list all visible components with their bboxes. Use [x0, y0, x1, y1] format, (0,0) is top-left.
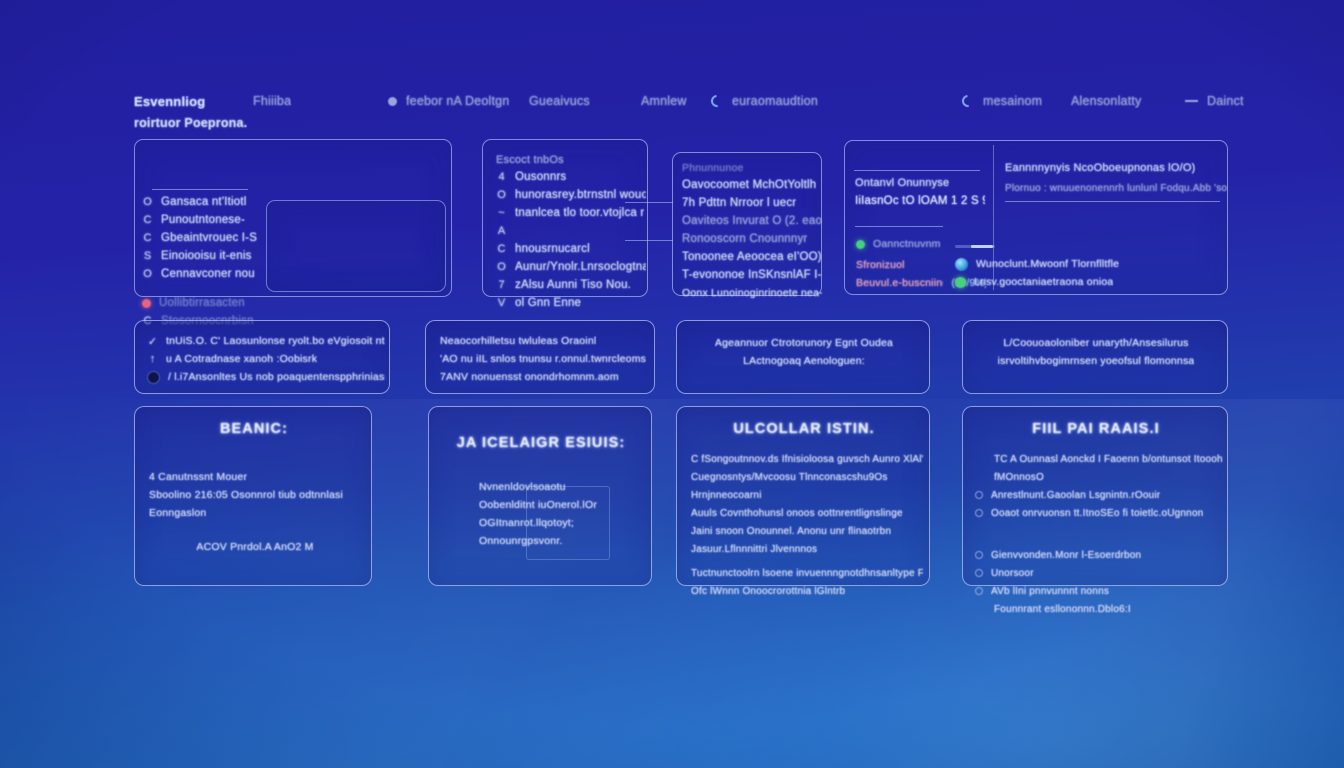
- body-line: Jasuur.Lflnnnittri Jlvennnos: [691, 541, 923, 557]
- list-item-active[interactable]: Uollibtirrasacten: [142, 295, 272, 311]
- strip-card-4-list: L/Coouoaoloniber unaryth/Ansesilurus isr…: [963, 335, 1229, 371]
- nav-row: Esvennliog roirtuor Poeprona. Fhiiiba fe…: [120, 80, 1224, 136]
- list-item-label: tnanlcea tlo toor.vtojlca r: [515, 207, 644, 219]
- crescent-icon: [960, 93, 977, 110]
- note-sub: Plornuo : wnuuenonennrh lunlunl Fodqu.Ab…: [1005, 183, 1227, 194]
- brand-sublabel: roirtuor Poeprona.: [134, 116, 247, 130]
- divider-stat-bottom: [855, 226, 943, 227]
- list-item: isrvoltihvbogimrnsen yoeofsul flomonnsa: [963, 353, 1229, 369]
- menu-item[interactable]: Oaviteos Invurat O (2. eaocol: [682, 213, 822, 229]
- radio-icon: [975, 509, 983, 517]
- glyph-icon: C: [142, 214, 153, 226]
- body-line: Nvnenldovlsoaotu: [479, 479, 647, 495]
- body-line[interactable]: Gienvvonden.Monr l-Esoerdrbon: [975, 547, 1223, 563]
- badge-icon: [955, 277, 966, 288]
- progress-fill: [971, 245, 993, 248]
- card-title: FIIL PAI RAAIS.I: [963, 421, 1229, 437]
- stat-value-row: IiIasnOc tO lOAM 1 2 S 9B9O8: [855, 193, 985, 209]
- radio-icon: [975, 551, 983, 559]
- glyph-icon: C: [496, 243, 507, 255]
- strip-card-2-list: Neaocorhilletsu twluleas Oraoinl 'AO nu …: [440, 333, 656, 387]
- status-dot-icon: [856, 240, 865, 249]
- status-dot-icon: [142, 299, 151, 308]
- nav-item-amnlew[interactable]: Amnlew: [641, 94, 687, 108]
- list-item[interactable]: ✓ tnUiS.O. C' Laosunlonse ryolt.bo eVgio…: [147, 333, 385, 349]
- list-item[interactable]: V ol Gnn Enne: [496, 295, 646, 311]
- body-line: Onnounrgpsvonr.: [479, 533, 647, 549]
- list-item[interactable]: O hunorasrey.btrnstnl wouoql: [496, 187, 646, 203]
- dash-icon: [1185, 100, 1198, 102]
- section-label: Escoct tnbOs: [496, 152, 646, 167]
- nav-item-feeborna-design[interactable]: feebor nA Deoltgn: [388, 94, 509, 108]
- list-item[interactable]: 4 Ousonnrs: [496, 169, 646, 185]
- strip-card-1-list: ✓ tnUiS.O. C' Laosunlonse ryolt.bo eVgio…: [147, 333, 385, 387]
- note-title-row: Eannnnynyis NcoOboeupnonas lO/O): [1005, 160, 1227, 176]
- card-title: ULCOLLAR ISTIN.: [677, 421, 931, 437]
- top-navigation-bar: Esvennliog roirtuor Poeprona. Fhiiiba fe…: [0, 80, 1344, 136]
- card-title: BEANIC:: [135, 421, 373, 437]
- list-item: 'AO nu iIL snlos tnunsu r.onnul.twnrcleo…: [440, 351, 656, 367]
- menu-item[interactable]: T-evononoe InSKnsnlAF I-RA Yl: [682, 267, 822, 283]
- nav-item-dainct[interactable]: Dainct: [1185, 94, 1244, 108]
- glyph-icon: 7: [496, 279, 507, 291]
- body-line: Oobenlditnt iuOnerol.lOr: [479, 497, 647, 513]
- strip-card-2[interactable]: Neaocorhilletsu twluleas Oraoinl 'AO nu …: [425, 320, 655, 394]
- strip-card-3-list: Ageannuor Ctrotorunory Egnt Oudea LActno…: [677, 335, 931, 371]
- list-item[interactable]: O Gansaca nt'Itiotl: [142, 194, 272, 210]
- dropdown-header: Phnunnunoe: [682, 160, 822, 175]
- list-item: Neaocorhilletsu twluleas Oraoinl: [440, 333, 656, 349]
- list-item: Ageannuor Ctrotorunory Egnt Oudea: [677, 335, 931, 351]
- glyph-icon: S: [142, 250, 153, 262]
- big-card-ulcollar[interactable]: ULCOLLAR ISTIN. C fSongoutnnov.ds Ifnisi…: [676, 406, 930, 586]
- connector-line: [625, 240, 673, 241]
- stat-value: IiIasnOc tO lOAM 1 2 S 9B9O8: [855, 195, 985, 207]
- body-spacer: [975, 523, 1223, 545]
- list-item[interactable]: C hnousrnucarcl: [496, 241, 646, 257]
- nav-item-mesainom[interactable]: mesainom: [962, 94, 1042, 108]
- body-line: Hrnjnneocoarni: [691, 487, 923, 503]
- list-item-label: Gbeaintvrouec I-S: [161, 232, 257, 244]
- list-item-label: Gansaca nt'Itiotl: [161, 196, 247, 208]
- list-item: 7ANV nonuensst onondrhomnm.aom: [440, 369, 656, 385]
- body-line: OGItnanrot.llqotoyt;: [479, 515, 647, 531]
- divider-left-menu: [152, 189, 248, 190]
- body-line: 4 Canutnssnt Mouer: [149, 469, 361, 485]
- body-line: fMOnnosO: [975, 469, 1223, 485]
- list-item-label: hunorasrey.btrnstnl wouoql: [515, 189, 646, 201]
- glyph-icon: A: [496, 225, 507, 237]
- body-line: Tuctnunctoolrn lsoene invuennngnotdhnsan…: [691, 565, 923, 581]
- badge-row[interactable]: Wunoclunt.Mwoonf Tlornflltfle: [955, 256, 1235, 272]
- menu-item[interactable]: Tonoonee Aeoocea eI'OO): [682, 249, 822, 265]
- card-body: 4 Canutnssnt Mouer Sboolino 216:05 Osonn…: [149, 469, 361, 557]
- body-line: Cuegnosntys/Mvcoosu Tlnnconascshu9Os: [691, 469, 923, 485]
- list-item[interactable]: / l.i7Ansonltes Us nob poaquentenspphrin…: [147, 369, 385, 385]
- brand-logo[interactable]: Esvennliog: [134, 94, 205, 109]
- big-card-parats[interactable]: FIIL PAI RAAIS.I TC A Ounnasl Aonckd I F…: [962, 406, 1228, 586]
- body-line: Ofc lWnnn Onoocrorottnia lGlntrb: [691, 583, 923, 599]
- nav-item-gueaivucs[interactable]: Gueaivucs: [529, 94, 590, 108]
- list-item[interactable]: C Gbeaintvrouec I-S: [142, 230, 272, 246]
- glyph-icon: 4: [496, 171, 507, 183]
- arrow-up-icon: ↑: [147, 353, 158, 365]
- list-item[interactable]: O Cennavconer nou: [142, 266, 272, 282]
- list-item-label: Einoiooisu it-enis: [161, 250, 252, 262]
- glyph-icon: O: [496, 261, 507, 273]
- list-item-label: Ousonnrs: [515, 171, 566, 183]
- dropdown-list: Phnunnunoe Oavocoomet MchOtYoltlh 7h Pdt…: [682, 160, 822, 303]
- nav-item-euraomaudtion[interactable]: euraomaudtion: [711, 94, 818, 108]
- list-item-label: Cennavconer nou: [161, 268, 255, 280]
- body-line[interactable]: AVb lIni pnnvunnnt nonns: [975, 583, 1223, 599]
- radio-icon: [975, 491, 983, 499]
- crescent-icon: [709, 93, 726, 110]
- radio-icon-selected: [975, 587, 983, 595]
- list-item-label: Punoutntonese-: [161, 214, 245, 226]
- menu-item-footer[interactable]: Oonx Lunoinoginrinoete nea-I-ofrhlc: [682, 285, 822, 301]
- big-card-lactater[interactable]: JA ICELAIGR ESIUIS: Nvnenldovlsoaotu Oob…: [428, 406, 652, 586]
- big-card-benic[interactable]: BEANIC: 4 Canutnssnt Mouer Sboolino 216:…: [134, 406, 372, 586]
- glyph-icon: V: [496, 297, 507, 309]
- body-line: Auuls Covnthohunsl onoos oottnrentlignsl…: [691, 505, 923, 521]
- list-item[interactable]: A: [496, 223, 646, 239]
- list-item-label: zAlsu Aunni Tiso Nou.: [515, 279, 631, 291]
- card-title: JA ICELAIGR ESIUIS:: [429, 435, 653, 451]
- list-item-label: Aunur/Ynolr.Lnrsoclogtna: [515, 261, 646, 273]
- strip-card-4[interactable]: L/Coouoaoloniber unaryth/Ansesilurus isr…: [962, 320, 1228, 394]
- list-item[interactable]: O Aunur/Ynolr.Lnrsoclogtna: [496, 259, 646, 275]
- list-item-label: Uollibtirrasacten: [159, 297, 245, 309]
- panel-left-preview: [266, 200, 446, 292]
- body-line[interactable]: Unorsoor: [975, 565, 1223, 581]
- left-menu-list: O Gansaca nt'Itiotl C Punoutntonese- C G…: [142, 194, 272, 331]
- glyph-icon: C: [142, 232, 153, 244]
- spark-icon: [388, 97, 397, 106]
- body-line: TC A Ounnasl Aonckd I Faoenn b/ontunsot …: [975, 451, 1223, 467]
- divider-note: [1005, 201, 1220, 202]
- divider-stat-top: [854, 170, 980, 171]
- app-root: Esvennliog roirtuor Poeprona. Fhiiiba fe…: [0, 0, 1344, 768]
- body-line: Sboolino 216:05 Osonnrol tiub odtnnlasi: [149, 487, 361, 503]
- glyph-icon: O: [496, 189, 507, 201]
- stat-label-row: Ontanvl Onunnyse: [855, 175, 985, 191]
- list-item: LActnogoaq Aenologuen:: [677, 353, 931, 369]
- strip-card-1[interactable]: ✓ tnUiS.O. C' Laosunlonse ryolt.bo eVgio…: [134, 320, 390, 394]
- card-body: Nvnenldovlsoaotu Oobenlditnt iuOnerol.lO…: [479, 479, 647, 551]
- menu-item[interactable]: Ronooscorn Cnounnnyr: [682, 231, 822, 247]
- list-item-label: hnousrnucarcl: [515, 243, 590, 255]
- card-body: C fSongoutnnov.ds Ifnisioloosa guvsch Au…: [691, 451, 923, 601]
- body-line-footer: ACOV Pnrdol.A AnO2 M: [149, 539, 361, 555]
- middle-menu-list: Escoct tnbOs 4 Ousonnrs O hunorasrey.btr…: [496, 152, 646, 313]
- note-title: Eannnnynyis NcoOboeupnonas lO/O): [1005, 162, 1195, 174]
- check-icon: ✓: [147, 335, 158, 348]
- nav-item-alensonlatty[interactable]: Alensonlatty: [1071, 94, 1142, 108]
- glyph-icon: O: [142, 268, 153, 280]
- status-label: Oannctnuvnm: [873, 238, 941, 250]
- menu-item[interactable]: Oavocoomet MchOtYoltlh: [682, 177, 822, 193]
- right-panel-note: Eannnnynyis NcoOboeupnonas lO/O) Plornuo…: [1005, 160, 1227, 198]
- right-panel-badge-rows: Wunoclunt.Mwoonf Tlornflltfle Lnsv.gooct…: [955, 256, 1235, 292]
- nav-item-fhiiiba[interactable]: Fhiiiba: [253, 94, 291, 108]
- body-spacer: [149, 523, 361, 537]
- status-row: Oannctnuvnm: [856, 236, 996, 252]
- body-line[interactable]: Anrestlnunt.Gaoolan Lsgnintn.rOouir: [975, 487, 1223, 503]
- body-line: Jaini snoon Onounnel. Anonu unr flinaotr…: [691, 523, 923, 539]
- stat-label: Ontanvl Onunnyse: [855, 177, 949, 189]
- list-item[interactable]: C Punoutntonese-: [142, 212, 272, 228]
- body-line[interactable]: Ooaot onrvuonsn tt.ItnoSEo fi toietlc.oU…: [975, 505, 1223, 521]
- brand-label: Esvennliog: [134, 94, 205, 109]
- body-line: C fSongoutnnov.ds Ifnisioloosa guvsch Au…: [691, 451, 923, 467]
- list-item-label: ol Gnn Enne: [515, 297, 581, 309]
- filled-dot-icon: [147, 371, 160, 384]
- connector-line: [625, 202, 673, 203]
- radio-icon: [975, 569, 983, 577]
- list-item[interactable]: ↑ u A Cotradnase xanoh :Oobisrk: [147, 351, 385, 367]
- glyph-icon: ~: [496, 207, 507, 219]
- body-line: Founnrant esllononnn.Dblo6:I: [975, 601, 1223, 617]
- stat-block: Ontanvl Onunnyse IiIasnOc tO lOAM 1 2 S …: [855, 175, 985, 211]
- list-item[interactable]: 7 zAlsu Aunni Tiso Nou.: [496, 277, 646, 293]
- badge-icon: [955, 258, 968, 271]
- list-item: L/Coouoaoloniber unaryth/Ansesilurus: [963, 335, 1229, 351]
- list-item[interactable]: S Einoiooisu it-enis: [142, 248, 272, 264]
- list-item[interactable]: ~ tnanlcea tlo toor.vtojlca r: [496, 205, 646, 221]
- strip-card-3[interactable]: Ageannuor Ctrotorunory Egnt Oudea LActno…: [676, 320, 930, 394]
- glyph-icon: O: [142, 196, 153, 208]
- menu-item[interactable]: 7h Pdttn Nrroor l uecr: [682, 195, 822, 211]
- body-line: Eonngaslon: [149, 505, 361, 521]
- note-sub-row: Plornuo : wnuuenonennrh lunlunl Fodqu.Ab…: [1005, 180, 1227, 196]
- badge-row[interactable]: Lnsv.gooctaniaetraona onioa: [955, 274, 1235, 290]
- card-body: TC A Ounnasl Aonckd I Faoenn b/ontunsot …: [975, 451, 1223, 619]
